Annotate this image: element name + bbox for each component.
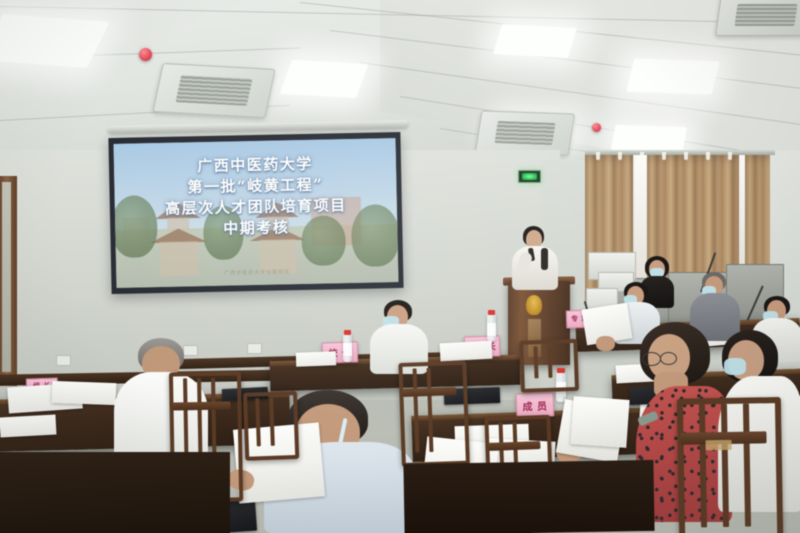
curtain-hook (618, 152, 622, 160)
smoke-detector-icon (139, 48, 152, 61)
projection-screen-canvas: 广西中医药大学 第一批“岐黄工程” 高层次人才团队培育项目 中期考核 广西中医药… (114, 138, 399, 288)
bottle-label (343, 343, 352, 356)
door-glass (2, 182, 11, 372)
curtain-rod (585, 150, 775, 155)
ac-grille-icon (734, 4, 797, 26)
curtain-hook (706, 152, 710, 160)
wall-power-outlet[interactable] (56, 355, 71, 366)
ceiling-light-panel (626, 58, 719, 94)
ceiling-light-panel (280, 60, 369, 98)
exit-sign-glow-icon (522, 173, 537, 180)
curtain-hook (596, 152, 600, 160)
hand (596, 336, 615, 351)
wooden-chair[interactable] (243, 391, 291, 453)
chair-top-rail (172, 401, 230, 410)
ac-grille-icon (494, 121, 556, 145)
wooden-chair[interactable] (677, 397, 771, 533)
bottle-label (487, 323, 496, 336)
face-mask (724, 358, 746, 375)
glasses-icon (642, 352, 661, 366)
lanyard (541, 248, 548, 270)
water-bottle[interactable] (487, 314, 496, 341)
placard-label: 成 员 (522, 397, 547, 413)
ac-grille-icon (176, 75, 252, 105)
conference-room-photo: 广西中医药大学 第一批“岐黄工程” 高层次人才团队培育项目 中期考核 广西中医药… (0, 0, 800, 533)
water-bottle[interactable] (343, 334, 352, 362)
chair-label-tag (706, 440, 732, 450)
document-sheet[interactable] (0, 415, 56, 438)
air-conditioner-unit (715, 0, 800, 36)
ceiling-light-panel (611, 125, 687, 153)
attendee-mid-left (370, 300, 428, 368)
chair-backrest (398, 361, 470, 467)
curtain-hook (640, 152, 644, 160)
curtain-hook (662, 152, 666, 160)
curtain-hook (728, 152, 732, 160)
wooden-chair[interactable] (519, 339, 571, 385)
glasses-icon (660, 352, 677, 365)
air-conditioner-unit (152, 63, 275, 118)
air-conditioner-unit (475, 110, 575, 155)
wall-power-outlet[interactable] (247, 343, 262, 354)
document-sheet[interactable] (296, 351, 336, 366)
bottle-cap (344, 330, 351, 335)
ceiling-light-panel (493, 24, 577, 58)
smoke-detector-icon (592, 123, 601, 132)
document-sheet[interactable] (52, 381, 117, 405)
curtain-hook (684, 152, 688, 160)
chair-backrest (677, 397, 784, 533)
projection-screen: 广西中医药大学 第一批“岐黄工程” 高层次人才团队培育项目 中期考核 广西中医药… (108, 132, 403, 294)
document-sheet[interactable] (440, 341, 493, 362)
foreground-table (403, 460, 654, 533)
speaker-person (512, 226, 558, 288)
door-frame[interactable] (0, 176, 17, 386)
wooden-chair[interactable] (398, 361, 461, 459)
foreground-table (0, 452, 230, 533)
bottle-cap (488, 310, 495, 315)
name-placard: 成 员 (516, 392, 555, 417)
podium-emblem-icon (526, 295, 542, 315)
held-document[interactable] (570, 396, 629, 448)
emergency-exit-sign (518, 170, 541, 183)
